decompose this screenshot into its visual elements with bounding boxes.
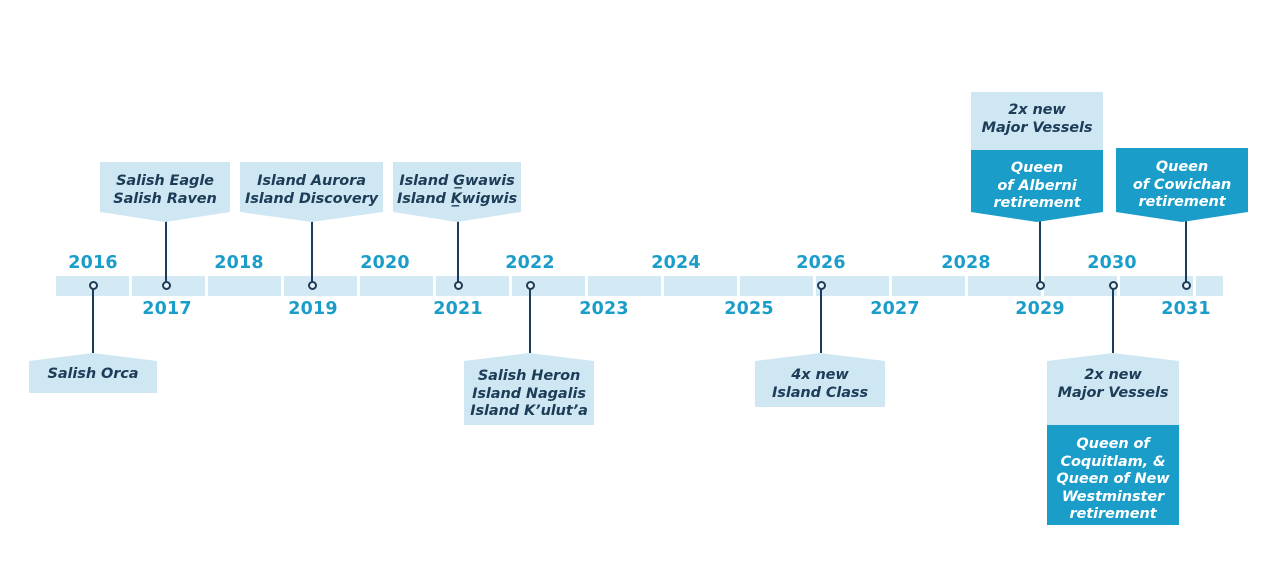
timeline-marker-2016[interactable] bbox=[89, 281, 98, 290]
year-label-2031: 2031 bbox=[1147, 299, 1225, 319]
timeline-segment-2028 bbox=[968, 276, 1041, 296]
year-label-2029: 2029 bbox=[1001, 299, 1079, 319]
callout-2026-label: 4x new Island Class bbox=[755, 367, 885, 402]
timeline-marker-2017[interactable] bbox=[162, 281, 171, 290]
year-label-2024: 2024 bbox=[637, 253, 715, 273]
timeline-marker-2026[interactable] bbox=[817, 281, 826, 290]
year-label-2019: 2019 bbox=[274, 299, 352, 319]
connector-stem-2026 bbox=[820, 286, 822, 353]
callout-2022-label: Salish Heron Island Nagalis Island K’ulu… bbox=[464, 368, 594, 421]
connector-stem-2031 bbox=[1185, 219, 1187, 286]
timeline-segment-2031 bbox=[1196, 276, 1223, 296]
callout-2030[interactable]: 2x new Major Vessels Queen of Coquitlam,… bbox=[1047, 353, 1179, 525]
callout-2016-label: Salish Orca bbox=[29, 366, 157, 384]
callout-2019[interactable]: Island Aurora Island Discovery bbox=[240, 160, 383, 222]
timeline-segment-2019 bbox=[284, 276, 357, 296]
timeline-segment-2029 bbox=[1044, 276, 1117, 296]
timeline-segment-2024 bbox=[664, 276, 737, 296]
callout-2021[interactable]: Island G̲wawis Island K̲wigwis bbox=[393, 160, 521, 222]
year-label-2017: 2017 bbox=[128, 299, 206, 319]
connector-stem-2030 bbox=[1112, 286, 1114, 353]
timeline-marker-2022[interactable] bbox=[526, 281, 535, 290]
connector-stem-2022 bbox=[529, 286, 531, 353]
connector-stem-2029 bbox=[1039, 219, 1041, 286]
callout-2030-top-label: 2x new Major Vessels bbox=[1047, 367, 1179, 402]
callout-2017[interactable]: Salish Eagle Salish Raven bbox=[100, 160, 230, 222]
timeline-marker-2029[interactable] bbox=[1036, 281, 1045, 290]
timeline-segment-2025 bbox=[740, 276, 813, 296]
year-label-2027: 2027 bbox=[856, 299, 934, 319]
callout-2019-label: Island Aurora Island Discovery bbox=[240, 173, 383, 208]
connector-stem-2016 bbox=[92, 286, 94, 353]
connector-stem-2017 bbox=[165, 219, 167, 286]
callout-2029[interactable]: 2x new Major Vessels Queen of Alberni re… bbox=[971, 88, 1103, 222]
year-label-2030: 2030 bbox=[1073, 253, 1151, 273]
timeline-diagram: 2016 2018 2020 2022 2024 2026 2028 2030 … bbox=[0, 0, 1280, 582]
year-label-2025: 2025 bbox=[710, 299, 788, 319]
connector-stem-2019 bbox=[311, 219, 313, 286]
timeline-segment-2021 bbox=[436, 276, 509, 296]
year-label-2023: 2023 bbox=[565, 299, 643, 319]
callout-2016[interactable]: Salish Orca bbox=[29, 353, 157, 393]
year-label-2020: 2020 bbox=[346, 253, 424, 273]
timeline-marker-2031[interactable] bbox=[1182, 281, 1191, 290]
timeline-marker-2021[interactable] bbox=[454, 281, 463, 290]
callout-2030-bottom-label: Queen of Coquitlam, & Queen of New Westm… bbox=[1047, 436, 1179, 524]
timeline-segment-2023 bbox=[588, 276, 661, 296]
callout-2029-bottom-label: Queen of Alberni retirement bbox=[971, 160, 1103, 213]
year-label-2022: 2022 bbox=[491, 253, 569, 273]
timeline-segment-2026 bbox=[816, 276, 889, 296]
year-label-2026: 2026 bbox=[782, 253, 860, 273]
year-label-2018: 2018 bbox=[200, 253, 278, 273]
timeline-segment-2022 bbox=[512, 276, 585, 296]
callout-2022[interactable]: Salish Heron Island Nagalis Island K’ulu… bbox=[464, 353, 594, 425]
callout-2021-label: Island G̲wawis Island K̲wigwis bbox=[393, 173, 521, 208]
callout-2026[interactable]: 4x new Island Class bbox=[755, 353, 885, 407]
timeline-segment-2020 bbox=[360, 276, 433, 296]
timeline-segment-2018 bbox=[208, 276, 281, 296]
timeline-marker-2019[interactable] bbox=[308, 281, 317, 290]
connector-stem-2021 bbox=[457, 219, 459, 286]
timeline-marker-2030[interactable] bbox=[1109, 281, 1118, 290]
year-label-2016: 2016 bbox=[54, 253, 132, 273]
timeline-segment-2027 bbox=[892, 276, 965, 296]
callout-2029-top-label: 2x new Major Vessels bbox=[971, 102, 1103, 137]
callout-2031[interactable]: Queen of Cowichan retirement bbox=[1116, 146, 1248, 222]
callout-2017-label: Salish Eagle Salish Raven bbox=[100, 173, 230, 208]
callout-2031-label: Queen of Cowichan retirement bbox=[1116, 159, 1248, 212]
year-label-2021: 2021 bbox=[419, 299, 497, 319]
year-label-2028: 2028 bbox=[927, 253, 1005, 273]
